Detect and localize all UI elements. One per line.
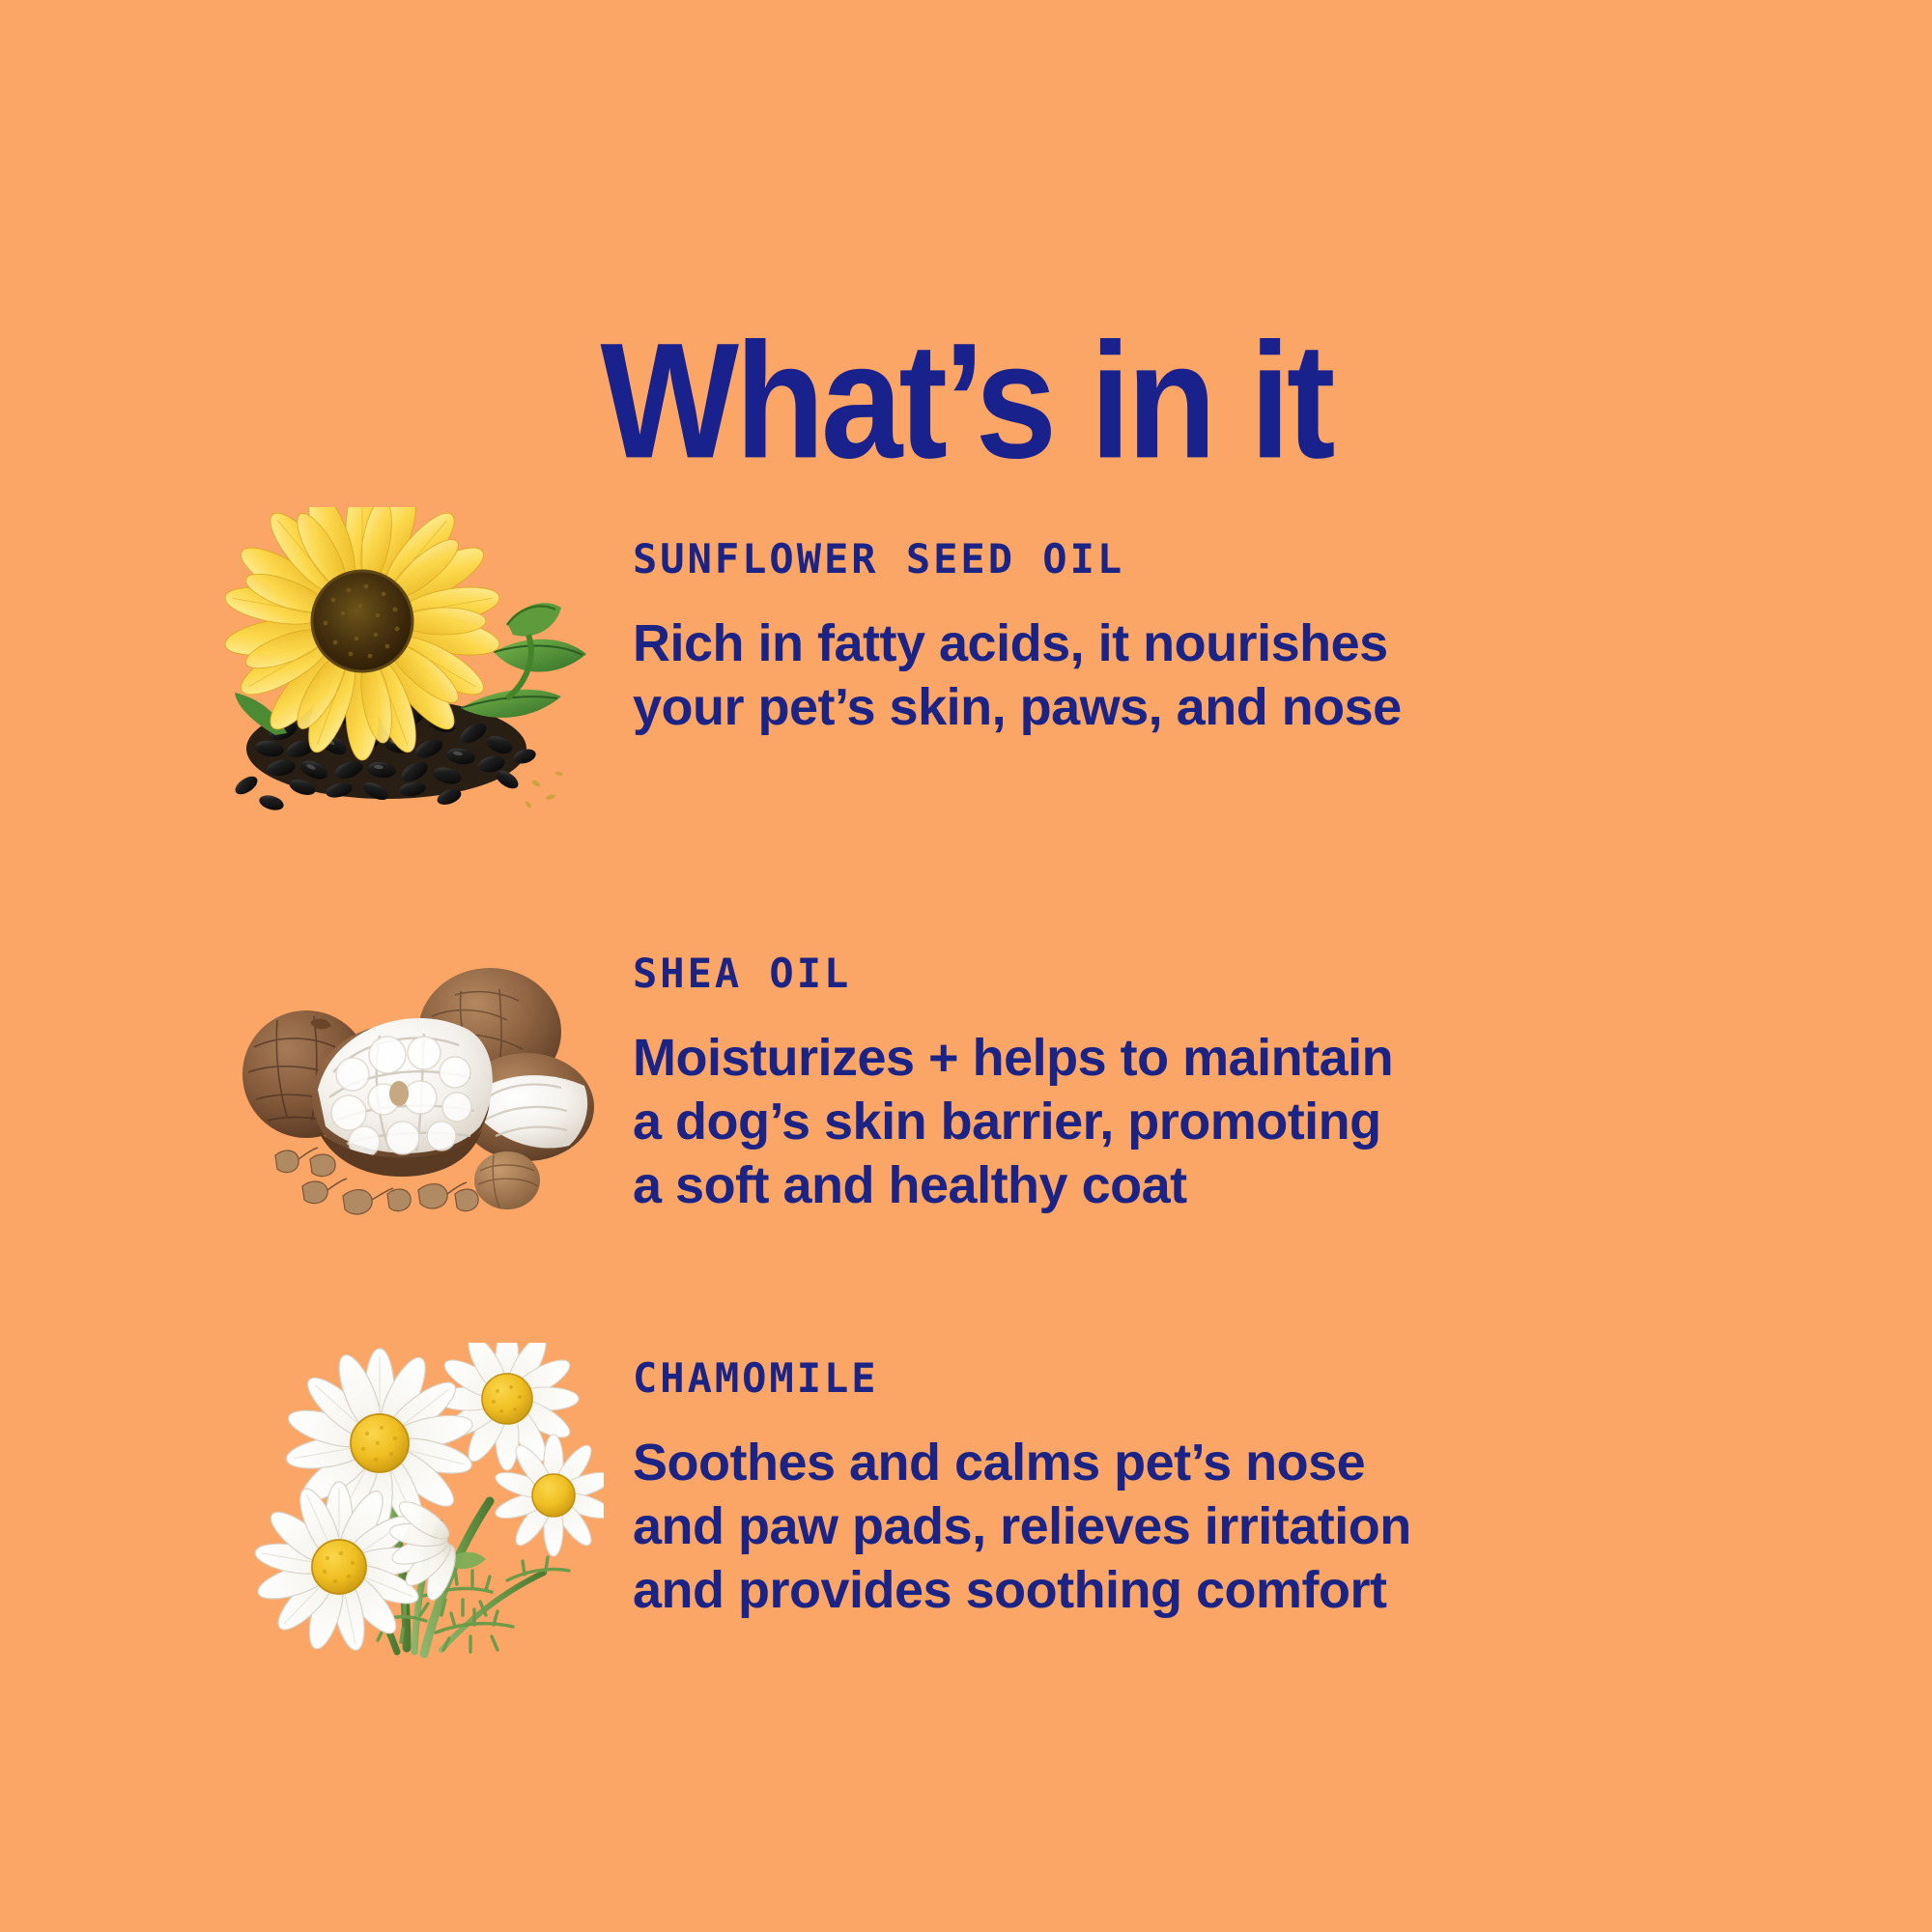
- ingredient-row-chamomile: CHAMOMILE Soothes and calms pet’s nose a…: [0, 1323, 1932, 1690]
- chamomile-illustration: [208, 1323, 613, 1690]
- desc-line: Moisturizes + helps to maintain: [633, 1027, 1393, 1091]
- ingredient-row-sunflower: SUNFLOWER SEED OIL Rich in fatty acids, …: [0, 483, 1932, 850]
- ingredient-row-shea: SHEA OIL Moisturizes + helps to maintain…: [0, 903, 1932, 1270]
- ingredient-name: SHEA OIL: [633, 953, 1393, 994]
- desc-line: and paw pads, relieves irritation: [633, 1495, 1411, 1559]
- shea-nut-illustration: [208, 903, 613, 1270]
- ingredients-infographic: What’s in it: [0, 0, 1932, 1932]
- desc-line: Soothes and calms pet’s nose: [633, 1432, 1411, 1495]
- ingredient-copy: SUNFLOWER SEED OIL Rich in fatty acids, …: [633, 483, 1402, 740]
- desc-line: and provides soothing comfort: [633, 1559, 1411, 1623]
- sunflower-illustration: [208, 483, 613, 850]
- ingredient-copy: CHAMOMILE Soothes and calms pet’s nose a…: [633, 1323, 1411, 1623]
- ingredient-name: SUNFLOWER SEED OIL: [633, 539, 1402, 580]
- desc-line: a dog’s skin barrier, promoting: [633, 1091, 1393, 1154]
- ingredient-name: CHAMOMILE: [633, 1358, 1411, 1399]
- desc-line: your pet’s skin, paws, and nose: [633, 676, 1402, 740]
- desc-line: a soft and healthy coat: [633, 1154, 1393, 1218]
- page-title: What’s in it: [0, 319, 1932, 483]
- ingredient-description: Rich in fatty acids, it nourishes your p…: [633, 612, 1402, 740]
- desc-line: Rich in fatty acids, it nourishes: [633, 612, 1402, 676]
- ingredient-copy: SHEA OIL Moisturizes + helps to maintain…: [633, 903, 1393, 1218]
- ingredient-description: Moisturizes + helps to maintain a dog’s …: [633, 1027, 1393, 1218]
- ingredient-description: Soothes and calms pet’s nose and paw pad…: [633, 1432, 1411, 1623]
